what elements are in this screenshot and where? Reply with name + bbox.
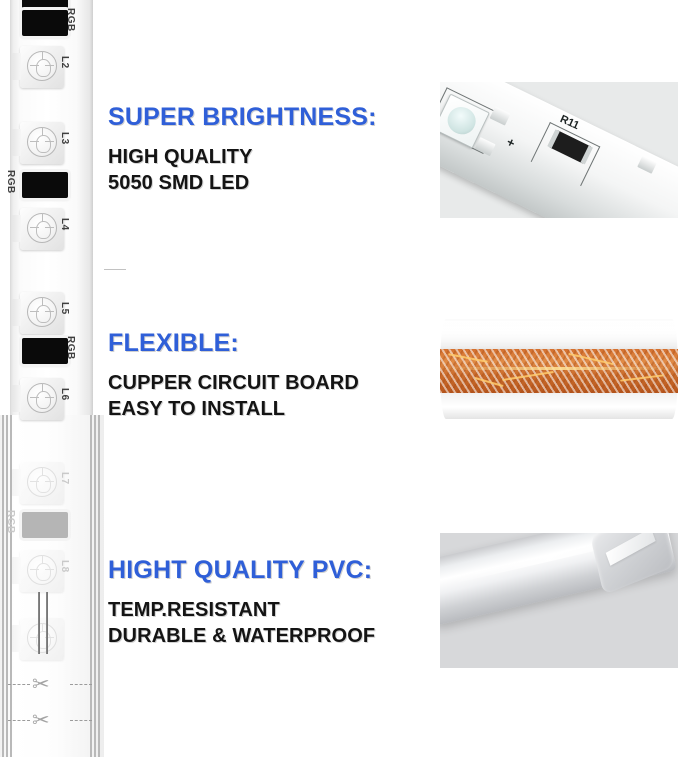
feature-body: HIGH QUALITY 5050 SMD LED bbox=[108, 144, 438, 197]
feature-heading: SUPER BRIGHTNESS: bbox=[108, 104, 438, 132]
led-dome-icon bbox=[27, 51, 57, 81]
scissors-icon: ✂ bbox=[32, 710, 50, 731]
led-dome-icon bbox=[27, 467, 57, 497]
cut-marker: ✂ bbox=[8, 708, 92, 734]
sleeve-ridge-line bbox=[90, 415, 92, 757]
pvc-tube bbox=[440, 533, 677, 626]
led-chip bbox=[20, 462, 64, 504]
led-strip-diagram: RGB L2 L3 RGB bbox=[0, 0, 108, 757]
rgb-connector-block bbox=[22, 10, 68, 36]
led-dome-icon bbox=[27, 383, 57, 413]
pvc-tube-end bbox=[590, 533, 675, 595]
feature-body-line: DURABLE & WATERPROOF bbox=[108, 623, 438, 650]
strip-label-l2: L2 bbox=[59, 56, 70, 69]
led-chip bbox=[20, 378, 64, 420]
strip-label-l5: L5 bbox=[59, 302, 70, 315]
cut-dash-line bbox=[70, 720, 92, 721]
sleeve-ridge-line bbox=[2, 415, 4, 757]
strip-label-l6: L6 bbox=[59, 388, 70, 401]
infographic-page: RGB L2 L3 RGB bbox=[0, 0, 679, 757]
feature-body-line: HIGH QUALITY bbox=[108, 144, 438, 171]
strip-label-l4: L4 bbox=[59, 218, 70, 231]
rgb-connector-block bbox=[22, 172, 68, 198]
divider-hairline bbox=[104, 269, 126, 270]
led-chip bbox=[20, 46, 64, 88]
sleeve-ridge-line bbox=[98, 415, 100, 757]
led-chip bbox=[20, 292, 64, 334]
strip-label-rgb: RGB bbox=[65, 336, 76, 360]
rgb-connector-block bbox=[22, 512, 68, 538]
led-dome-icon bbox=[27, 127, 57, 157]
copper-braid-photo bbox=[440, 297, 678, 438]
led-chip bbox=[20, 122, 64, 164]
feature-body-line: EASY TO INSTALL bbox=[108, 396, 438, 423]
led-chip bbox=[20, 550, 64, 592]
rgb-connector-block bbox=[22, 338, 68, 364]
feature-heading: FLEXIBLE: bbox=[108, 330, 438, 358]
strip-label-l8: L8 bbox=[59, 560, 70, 573]
pcb-solder-pad bbox=[637, 156, 657, 174]
feature-body: CUPPER CIRCUIT BOARD EASY TO INSTALL bbox=[108, 370, 438, 423]
lead-wires bbox=[36, 592, 52, 654]
feature-body-line: TEMP.RESISTANT bbox=[108, 597, 438, 624]
pvc-sleeve-photo bbox=[440, 533, 678, 668]
feature-body: TEMP.RESISTANT DURABLE & WATERPROOF bbox=[108, 597, 438, 650]
rgb-connector-block bbox=[22, 0, 68, 10]
feature-block-flexible: FLEXIBLE: CUPPER CIRCUIT BOARD EASY TO I… bbox=[108, 330, 438, 423]
cut-dash-line bbox=[8, 684, 30, 685]
sleeve-ridge-line bbox=[94, 415, 96, 757]
led-dome-icon bbox=[27, 213, 57, 243]
strip-label-rgb: RGB bbox=[65, 8, 76, 32]
copper-braid-core bbox=[440, 349, 678, 393]
feature-heading: HIGHT QUALITY PVC: bbox=[108, 557, 438, 585]
cut-dash-line bbox=[70, 684, 92, 685]
feature-body-line: 5050 SMD LED bbox=[108, 170, 438, 197]
pvc-highlight-chip bbox=[606, 533, 656, 566]
led-dome-icon bbox=[27, 297, 57, 327]
strip-label-rgb: RGB bbox=[5, 510, 16, 534]
led-chip bbox=[20, 208, 64, 250]
sleeve-ridge-line bbox=[6, 415, 8, 757]
jacket-highlight bbox=[440, 321, 678, 343]
pcb-solder-pad bbox=[475, 137, 496, 156]
pcb-closeup-photo: R11 D2 + bbox=[440, 82, 678, 218]
feature-block-pvc: HIGHT QUALITY PVC: TEMP.RESISTANT DURABL… bbox=[108, 557, 438, 650]
feature-block-brightness: SUPER BRIGHTNESS: HIGH QUALITY 5050 SMD … bbox=[108, 104, 438, 197]
led-dome-icon bbox=[27, 555, 57, 585]
scissors-icon: ✂ bbox=[32, 674, 50, 695]
strip-label-rgb: RGB bbox=[5, 170, 16, 194]
strip-label-l3: L3 bbox=[59, 132, 70, 145]
feature-body-line: CUPPER CIRCUIT BOARD bbox=[108, 370, 438, 397]
pcb-board: R11 D2 + bbox=[440, 82, 678, 218]
cut-dash-line bbox=[8, 720, 30, 721]
cut-marker: ✂ bbox=[8, 672, 92, 698]
strip-label-l7: L7 bbox=[59, 472, 70, 485]
silkscreen-plus: + bbox=[504, 134, 517, 151]
